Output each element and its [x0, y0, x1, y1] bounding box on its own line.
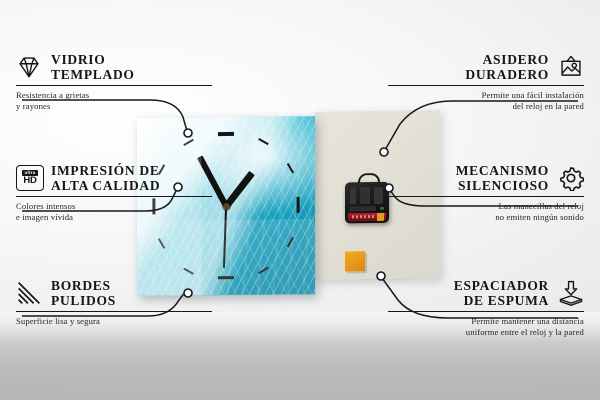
feature-desc-line2: no emiten ningún sonido — [388, 212, 584, 223]
feature-header: VIDRIO TEMPLADO — [16, 52, 212, 82]
infographic-canvas: VIDRIO TEMPLADO Resistencia a grietas y … — [0, 0, 600, 400]
ultra-hd-icon: ultra HD — [16, 165, 42, 191]
feature-divider — [388, 85, 584, 86]
polished-edge-icon — [16, 280, 42, 306]
feature-header: ultra HD IMPRESIÓN DE ALTA CALIDAD — [16, 163, 212, 193]
feature-desc-line1: Superficie lisa y segura — [16, 316, 212, 327]
feature-desc-line2: e imagen vívida — [16, 212, 212, 223]
feature-desc-line2: uniforme entre el reloj y la pared — [388, 327, 584, 338]
feature-header: ESPACIADOR DE ESPUMA — [388, 278, 584, 308]
feature-title: VIDRIO TEMPLADO — [51, 52, 135, 82]
feature-impresion-alta-calidad: ultra HD IMPRESIÓN DE ALTA CALIDAD Color… — [16, 163, 212, 224]
feature-desc-line1: Permite mantener una distancia — [388, 316, 584, 327]
feature-desc-line1: Resistencia a grietas — [16, 90, 212, 101]
feature-espaciador-de-espuma: ESPACIADOR DE ESPUMA Permite mantener un… — [388, 278, 584, 339]
feature-title: BORDES PULIDOS — [51, 278, 116, 308]
second-hand — [223, 206, 227, 268]
clock-tick-marks — [137, 116, 315, 118]
feature-desc-line1: Colores intensos — [16, 201, 212, 212]
feature-vidrio-templado: VIDRIO TEMPLADO Resistencia a grietas y … — [16, 52, 212, 113]
feature-title: ASIDERO DURADERO — [465, 52, 549, 82]
clock-mechanism — [345, 179, 389, 224]
clock-tick — [218, 132, 234, 135]
hour-hand — [223, 171, 254, 208]
feature-divider — [16, 311, 212, 312]
clock-tick — [287, 163, 294, 173]
mechanism-embossing-secondary — [350, 206, 376, 211]
clock-tick — [184, 138, 194, 145]
diamond-icon — [16, 54, 42, 80]
feature-divider — [16, 196, 212, 197]
clock-tick — [296, 197, 299, 213]
feature-divider — [388, 311, 584, 312]
feature-divider — [388, 196, 584, 197]
feature-asidero-duradero: ASIDERO DURADERO Permite una fácil insta… — [388, 52, 584, 113]
feature-header: BORDES PULIDOS — [16, 278, 212, 308]
clock-tick — [258, 267, 268, 274]
feature-divider — [16, 85, 212, 86]
feature-mecanismo-silencioso: MECANISMO SILENCIOSO Las manecillas del … — [388, 163, 584, 224]
clock-tick — [184, 267, 194, 274]
feature-desc-line2: del reloj en la pared — [388, 101, 584, 112]
clock-tick — [218, 276, 234, 279]
battery-positive-terminal — [377, 213, 384, 221]
foam-spacer — [345, 251, 365, 271]
mechanism-embossing — [350, 187, 383, 204]
hanging-frame-icon — [558, 54, 584, 80]
clock-center-hub — [223, 202, 230, 209]
feature-title: IMPRESIÓN DE ALTA CALIDAD — [51, 163, 160, 193]
feature-desc-line1: Permite una fácil instalación — [388, 90, 584, 101]
foam-spacer-icon — [558, 280, 584, 306]
feature-desc-line2: y rayones — [16, 101, 212, 112]
mechanism-body — [345, 182, 389, 224]
feature-header: MECANISMO SILENCIOSO — [388, 163, 584, 193]
battery — [348, 213, 386, 222]
feature-title: MECANISMO SILENCIOSO — [456, 163, 549, 193]
clock-hands — [137, 116, 315, 118]
battery-label — [352, 215, 376, 218]
feature-desc-line1: Las manecillas del reloj — [388, 201, 584, 212]
gear-icon — [558, 165, 584, 191]
feature-header: ASIDERO DURADERO — [388, 52, 584, 82]
ultra-hd-text: HD — [23, 176, 36, 186]
clock-tick — [258, 138, 268, 145]
mechanism-marking — [380, 207, 384, 210]
feature-bordes-pulidos: BORDES PULIDOS Superficie lisa y segura — [16, 278, 212, 327]
clock-tick — [158, 239, 165, 249]
clock-tick — [287, 237, 294, 247]
feature-title: ESPACIADOR DE ESPUMA — [454, 278, 549, 308]
